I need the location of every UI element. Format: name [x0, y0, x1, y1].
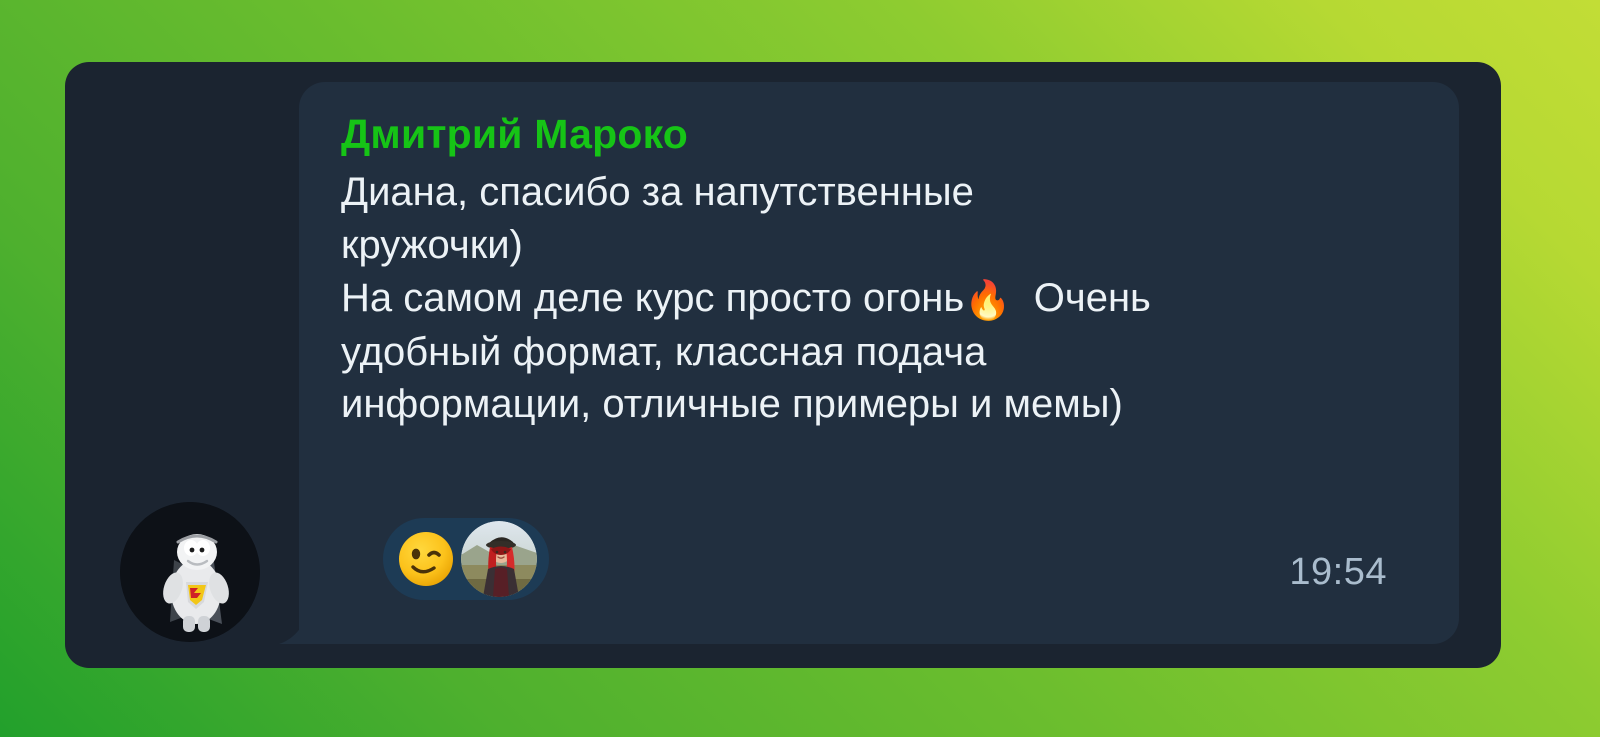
winking-face-emoji[interactable]	[395, 528, 457, 590]
message-line-4: удобный формат, классная подача	[341, 330, 986, 374]
reactor-avatar-photo[interactable]	[461, 521, 537, 597]
message-timestamp: 19:54	[1289, 551, 1387, 594]
message-line-1: Диана, спасибо за напутственные	[341, 170, 974, 214]
bubble-content: Дмитрий Мароко Диана, спасибо за напутст…	[341, 112, 1423, 626]
sender-name[interactable]: Дмитрий Мароко	[341, 112, 1423, 158]
sender-avatar-image	[120, 502, 260, 642]
message-bubble[interactable]: Дмитрий Мароко Диана, спасибо за напутст…	[299, 82, 1459, 644]
message-line-3a: На самом деле курс просто огонь	[341, 276, 964, 320]
message-row: Дмитрий Мароко Диана, спасибо за напутст…	[65, 62, 1501, 668]
reactions-pill[interactable]	[383, 518, 549, 600]
message-line-2: кружочки)	[341, 223, 523, 267]
screenshot-canvas: Дмитрий Мароко Диана, спасибо за напутст…	[0, 0, 1600, 737]
sender-avatar[interactable]	[120, 502, 260, 642]
chat-panel: Дмитрий Мароко Диана, спасибо за напутст…	[65, 62, 1501, 668]
message-line-5: информации, отличные примеры и мемы)	[341, 382, 1123, 426]
bubble-tail-icon	[279, 618, 307, 644]
message-text: Диана, спасибо за напутственные кружочки…	[341, 166, 1423, 431]
message-line-3b: Очень	[1012, 276, 1151, 320]
fire-emoji: 🔥	[964, 280, 1011, 322]
